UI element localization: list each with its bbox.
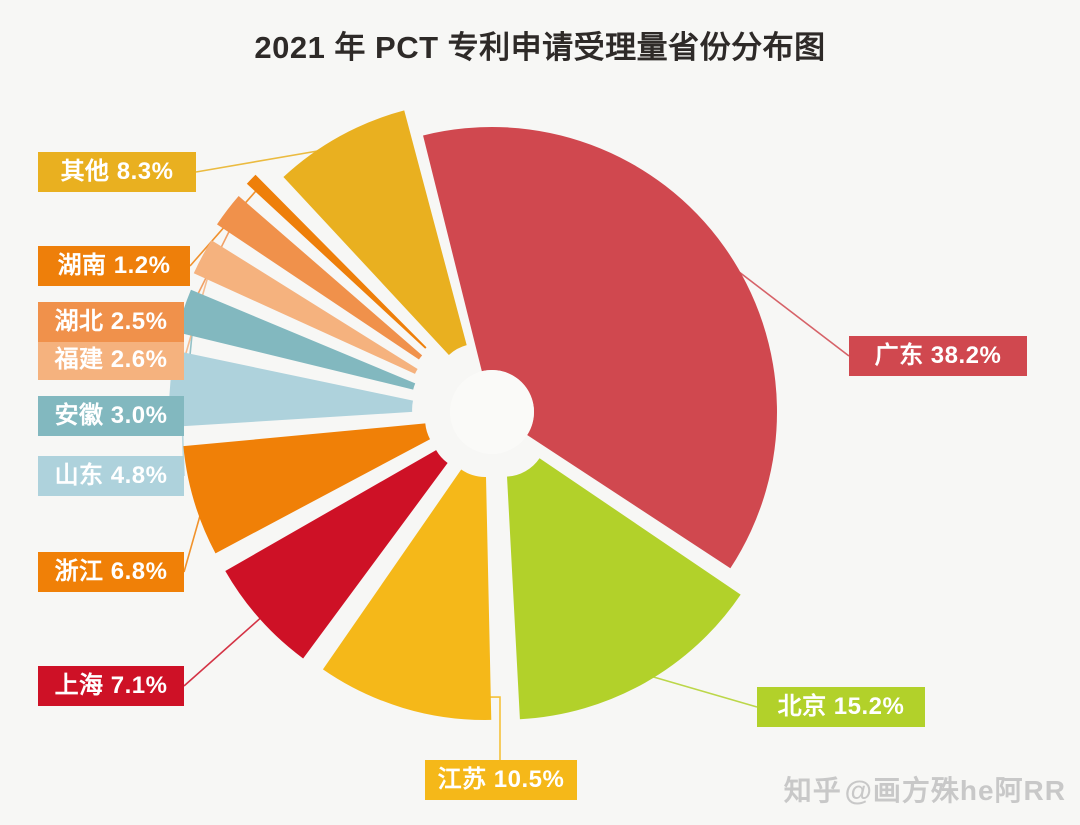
pie-slice[interactable] [169, 351, 413, 427]
callout-label-text: 其他 8.3% [61, 160, 174, 184]
callout-label-text: 福建 2.6% [55, 348, 168, 372]
callout-label-0[interactable]: 广东 38.2% [849, 336, 1027, 376]
callout-label-text: 江苏 10.5% [438, 768, 565, 792]
callout-label-2[interactable]: 江苏 10.5% [425, 760, 577, 800]
watermark: 知乎 @画方殊he阿RR [784, 769, 1066, 809]
callout-label-text: 安徽 3.0% [55, 404, 168, 428]
callout-label-3[interactable]: 上海 7.1% [38, 666, 184, 706]
callout-label-10[interactable]: 其他 8.3% [38, 152, 196, 192]
watermark-prefix: 知乎 [784, 775, 842, 806]
leader-line [639, 673, 757, 707]
donut-hole [450, 370, 534, 454]
watermark-handle: @画方殊he阿RR [845, 775, 1066, 806]
callout-label-6[interactable]: 安徽 3.0% [38, 396, 184, 436]
callout-label-text: 山东 4.8% [55, 464, 168, 488]
callout-label-1[interactable]: 北京 15.2% [757, 687, 925, 727]
callout-label-text: 浙江 6.8% [55, 560, 168, 584]
callout-label-text: 湖南 1.2% [58, 254, 171, 278]
callout-label-text: 广东 38.2% [875, 344, 1002, 368]
callout-label-text: 湖北 2.5% [55, 310, 168, 334]
chart-canvas: 2021 年 PCT 专利申请受理量省份分布图 广东 38.2%北京 15.2%… [0, 0, 1080, 825]
callout-label-text: 北京 15.2% [778, 695, 905, 719]
callout-label-5[interactable]: 山东 4.8% [38, 456, 184, 496]
callout-label-8[interactable]: 湖北 2.5% [38, 302, 184, 342]
callout-label-4[interactable]: 浙江 6.8% [38, 552, 184, 592]
callout-label-7[interactable]: 福建 2.6% [38, 340, 184, 380]
leader-line [184, 611, 268, 686]
callout-label-9[interactable]: 湖南 1.2% [38, 246, 190, 286]
callout-label-text: 上海 7.1% [55, 674, 168, 698]
